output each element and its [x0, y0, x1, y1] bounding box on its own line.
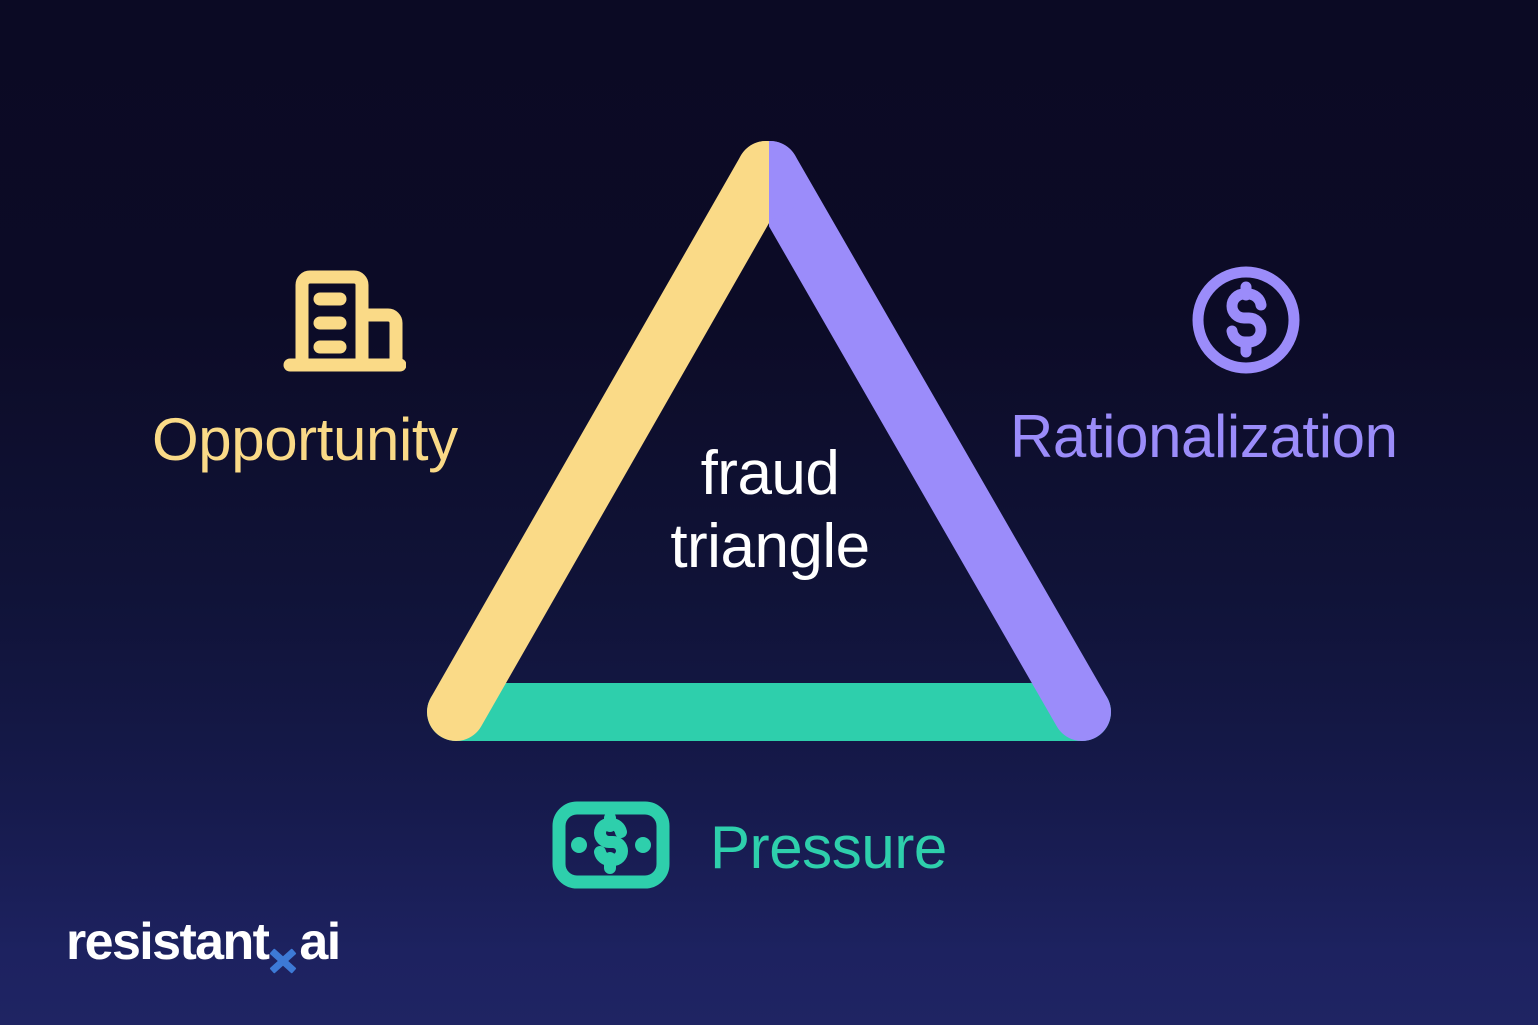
node-opportunity: Opportunity: [152, 265, 458, 470]
resistant-ai-logo[interactable]: resistant ai: [66, 916, 340, 972]
node-pressure: Pressure: [552, 800, 947, 895]
logo-word-resistant: resistant: [66, 916, 268, 968]
dollar-coin-icon: [1188, 262, 1304, 383]
node-opportunity-label: Opportunity: [152, 410, 458, 470]
x-mark-icon: [268, 944, 298, 978]
node-rationalization-label: Rationalization: [1010, 407, 1398, 467]
node-pressure-label: Pressure: [710, 818, 947, 878]
office-building-icon: [282, 265, 406, 382]
banknote-dollar-icon: [552, 800, 670, 895]
fraud-triangle-infographic: fraud triangle Opportunity: [0, 0, 1538, 1025]
center-caption-line-2: triangle: [590, 510, 950, 583]
logo-word-ai: ai: [299, 916, 339, 968]
center-caption-line-1: fraud: [590, 437, 950, 510]
node-rationalization: Rationalization: [1010, 262, 1398, 467]
center-caption: fraud triangle: [590, 437, 950, 583]
